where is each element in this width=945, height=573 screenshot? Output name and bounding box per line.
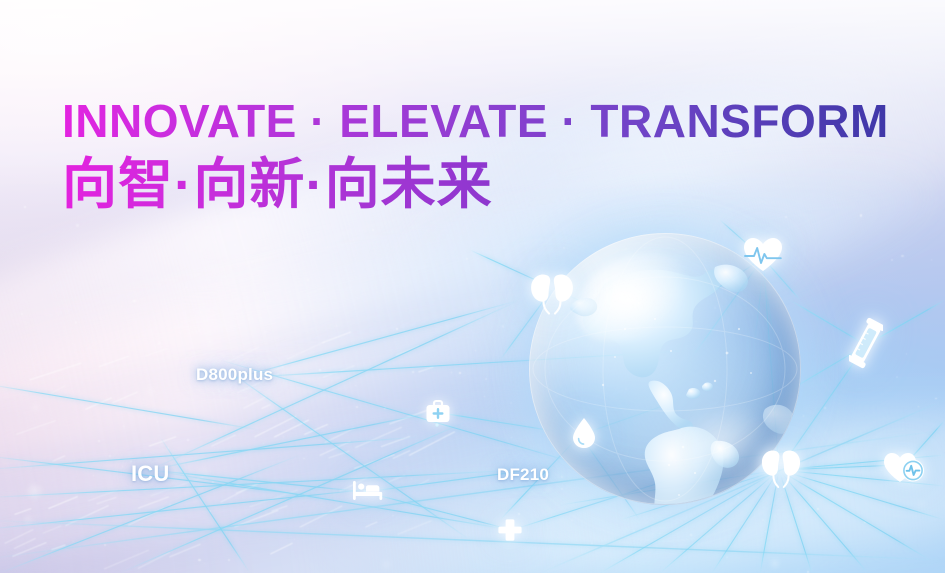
- headline-chinese: 向智·向新·向未来: [62, 153, 889, 216]
- medical-cross-icon[interactable]: [498, 518, 522, 542]
- syringe-icon[interactable]: [849, 317, 883, 369]
- kidneys-icon[interactable]: [528, 272, 576, 316]
- kidneys-icon[interactable]: [759, 449, 803, 491]
- medical-kit-icon[interactable]: [425, 399, 451, 424]
- headline-english: INNOVATE · ELEVATE · TRANSFORM: [62, 97, 889, 147]
- headline-block: INNOVATE · ELEVATE · TRANSFORM 向智·向新·向未来: [62, 97, 889, 215]
- heart-pulse-icon[interactable]: [743, 237, 783, 273]
- heart-monitor-icon[interactable]: [883, 450, 925, 484]
- water-drop-icon[interactable]: [571, 417, 597, 449]
- hospital-bed-icon[interactable]: [352, 479, 384, 501]
- promo-banner: D800plus ICU DF210 INNOVATE · ELEVATE · …: [0, 0, 945, 573]
